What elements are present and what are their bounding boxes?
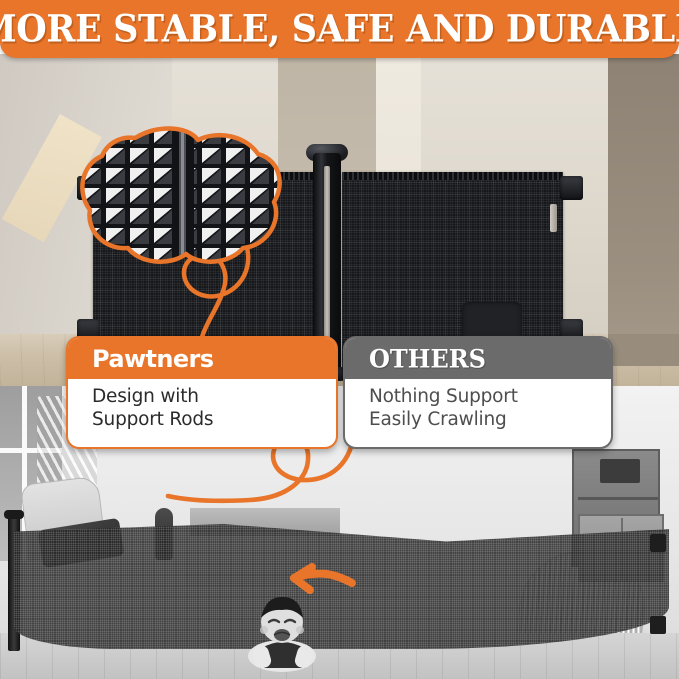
pawtners-brand-label: Pawtners <box>92 347 213 371</box>
comparison-cards: Pawtners Design with Support Rods OTHERS… <box>0 336 679 454</box>
banner-title: MORE STABLE, SAFE AND DURABLE <box>0 7 679 50</box>
magnifier-callout-bubble <box>80 126 285 266</box>
sagging-gate-mount-bottom <box>650 616 666 634</box>
card-pawtners[interactable]: Pawtners Design with Support Rods <box>66 336 338 449</box>
sagging-gate-post-cap <box>4 510 24 519</box>
card-others-header: OTHERS <box>345 338 611 379</box>
crawling-baby <box>236 584 328 674</box>
card-pawtners-header: Pawtners <box>68 338 336 379</box>
gate-top-rail-right <box>342 172 563 180</box>
sagging-gate-mount-top <box>650 534 666 552</box>
others-label: OTHERS <box>369 346 486 371</box>
card-others-body: Nothing Support Easily Crawling <box>345 379 611 432</box>
support-post-strip <box>324 166 330 362</box>
card-pawtners-line-2: Support Rods <box>92 408 336 431</box>
header-banner: MORE STABLE, SAFE AND DURABLE <box>0 0 679 58</box>
bw-shelf-box <box>600 459 640 483</box>
sagging-mesh-gate <box>14 524 669 649</box>
infographic-page: Pawtners Design with Support Rods OTHERS… <box>0 0 679 679</box>
card-others-line-2: Easily Crawling <box>369 408 611 431</box>
card-pawtners-body: Design with Support Rods <box>68 379 336 432</box>
card-others[interactable]: OTHERS Nothing Support Easily Crawling <box>343 336 613 449</box>
gate-latch-handle <box>550 204 557 232</box>
wall-mount-top-right <box>560 176 583 200</box>
card-pawtners-line-1: Design with <box>92 385 336 408</box>
card-others-line-1: Nothing Support <box>369 385 611 408</box>
